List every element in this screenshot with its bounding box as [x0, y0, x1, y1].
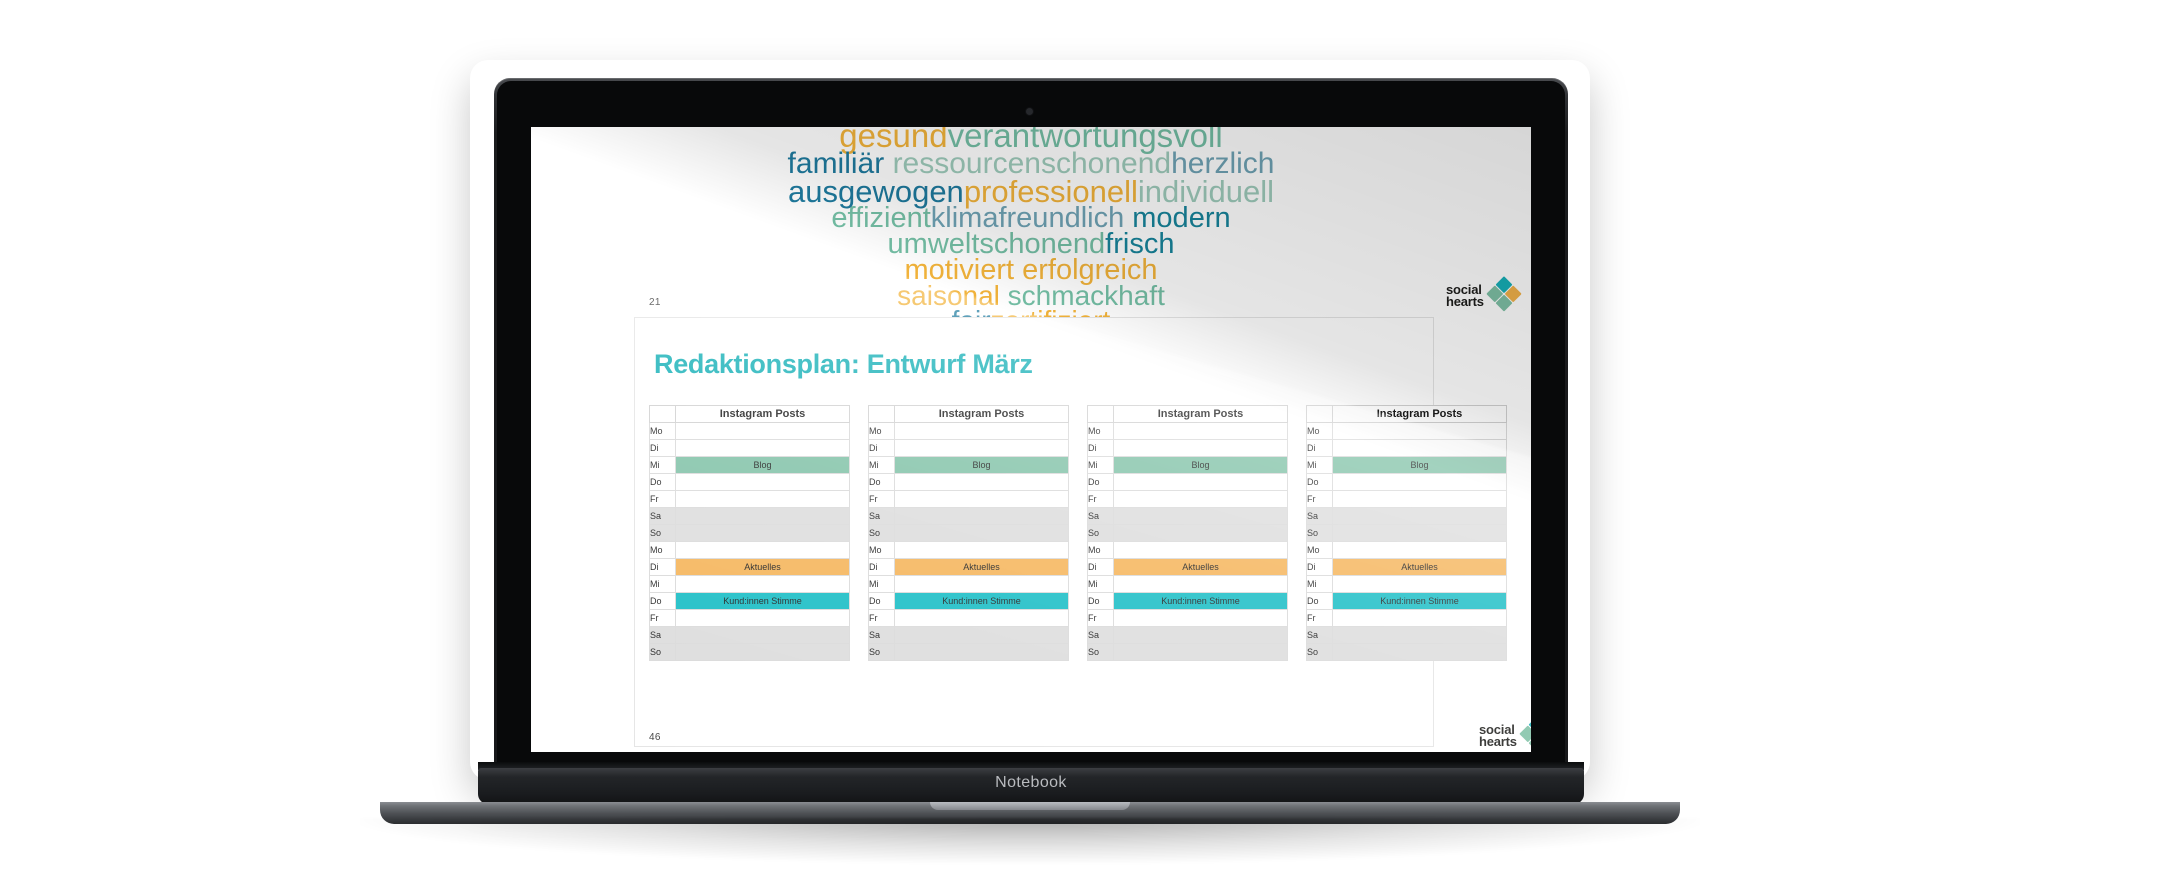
- table-row: MiBlog: [1088, 457, 1288, 474]
- calendar-entry-cell[interactable]: Blog: [1333, 457, 1507, 474]
- calendar-day-label: Mo: [869, 542, 895, 559]
- social-hearts-diamond-icon: [1484, 276, 1524, 316]
- table-row: DoKund:innen Stimme: [1307, 593, 1507, 610]
- calendar-day-label: Mi: [869, 576, 895, 593]
- calendar-entry-cell[interactable]: Aktuelles: [895, 559, 1069, 576]
- calendar-day-label: Fr: [1088, 491, 1114, 508]
- calendar-entry-cell: [676, 440, 850, 457]
- calendar-entry-cell: [1333, 525, 1507, 542]
- calendar-entry-cell: [676, 491, 850, 508]
- table-row: Mo: [869, 542, 1069, 559]
- column-header-instagram-posts: Instagram Posts: [1114, 406, 1288, 423]
- calendar-entry-cell: [1114, 644, 1288, 661]
- table-row: So: [1307, 525, 1507, 542]
- logo-quadrant-bottom-left: [1519, 725, 1531, 742]
- calendar-entry-cell: [1333, 508, 1507, 525]
- table-row: Mi: [1088, 576, 1288, 593]
- calendar-table: Instagram PostsMoDiMiBlogDoFrSaSoMoDiAkt…: [1306, 405, 1507, 661]
- calendar-day-label: So: [1307, 644, 1333, 661]
- table-row: DiAktuelles: [1307, 559, 1507, 576]
- column-header-instagram-posts: Instagram Posts: [895, 406, 1069, 423]
- laptop-deck: Notebook: [478, 768, 1584, 804]
- table-row: DiAktuelles: [1088, 559, 1288, 576]
- table-row: Mo: [1307, 542, 1507, 559]
- logo-line-2: hearts: [1446, 296, 1484, 308]
- calendar-entry-cell[interactable]: Kund:innen Stimme: [1333, 593, 1507, 610]
- table-row: MiBlog: [869, 457, 1069, 474]
- calendar-day-label: Mi: [650, 576, 676, 593]
- table-row: Sa: [1307, 508, 1507, 525]
- calendar-entry-cell: [1114, 440, 1288, 457]
- calendar-entry-cell: [1114, 508, 1288, 525]
- table-row: MiBlog: [1307, 457, 1507, 474]
- calendar-day-label: Mi: [1088, 576, 1114, 593]
- calendar-day-label: Mo: [1307, 542, 1333, 559]
- calendar-entry-cell: [676, 576, 850, 593]
- table-row: Do: [1307, 474, 1507, 491]
- column-header-day: [1307, 406, 1333, 423]
- calendar-entry-cell: [1114, 491, 1288, 508]
- table-row: Mi: [650, 576, 850, 593]
- calendar-entry-cell[interactable]: Blog: [676, 457, 850, 474]
- calendar-entry-cell: [1333, 542, 1507, 559]
- calendar-entry-cell: [1114, 474, 1288, 491]
- table-row: Mo: [650, 423, 850, 440]
- calendar-day-label: Mo: [650, 542, 676, 559]
- calendar-day-label: Di: [650, 559, 676, 576]
- logo-bottom: social hearts: [1479, 722, 1531, 750]
- calendar-entry-cell: [676, 542, 850, 559]
- table-row: Sa: [1088, 627, 1288, 644]
- calendar-entry-cell[interactable]: Blog: [1114, 457, 1288, 474]
- calendar-day-label: Mi: [1088, 457, 1114, 474]
- calendar-day-label: Mo: [1088, 423, 1114, 440]
- calendar-day-label: So: [650, 644, 676, 661]
- calendar-day-label: Sa: [650, 508, 676, 525]
- table-row: Do: [869, 474, 1069, 491]
- calendar-entry-cell: [1114, 627, 1288, 644]
- calendar-day-label: Sa: [650, 627, 676, 644]
- table-row: So: [869, 525, 1069, 542]
- calendar-day-label: Do: [869, 593, 895, 610]
- table-row: Mo: [650, 542, 850, 559]
- editorial-calendar-tables: Instagram PostsMoDiMiBlogDoFrSaSoMoDiAkt…: [649, 405, 1507, 661]
- table-row: So: [1307, 644, 1507, 661]
- calendar-entry-cell: [1114, 610, 1288, 627]
- calendar-day-label: Di: [650, 440, 676, 457]
- table-row: Sa: [650, 508, 850, 525]
- calendar-day-label: Mo: [650, 423, 676, 440]
- calendar-day-label: Fr: [869, 610, 895, 627]
- calendar-entry-cell: [676, 627, 850, 644]
- calendar-entry-cell[interactable]: Kund:innen Stimme: [676, 593, 850, 610]
- calendar-entry-cell: [1333, 440, 1507, 457]
- calendar-entry-cell: [1333, 491, 1507, 508]
- calendar-day-label: Mi: [1307, 457, 1333, 474]
- table-row: Mo: [869, 423, 1069, 440]
- calendar-day-label: So: [1088, 644, 1114, 661]
- table-row: So: [650, 644, 850, 661]
- table-row: Fr: [869, 610, 1069, 627]
- calendar-day-label: Mi: [869, 457, 895, 474]
- column-header-day: [869, 406, 895, 423]
- calendar-day-label: Di: [1307, 440, 1333, 457]
- table-row: Mo: [1088, 542, 1288, 559]
- calendar-day-label: So: [1307, 525, 1333, 542]
- calendar-entry-cell: [1333, 627, 1507, 644]
- table-row: Di: [1307, 440, 1507, 457]
- laptop-mockup: gut grün nachhaltiggesundverantwortungsv…: [0, 0, 2160, 894]
- calendar-entry-cell: [1114, 525, 1288, 542]
- logo-wordmark-bottom: social hearts: [1479, 724, 1517, 748]
- table-row: Fr: [1088, 491, 1288, 508]
- calendar-day-label: Sa: [869, 627, 895, 644]
- table-row: So: [869, 644, 1069, 661]
- calendar-day-label: Do: [869, 474, 895, 491]
- calendar-entry-cell: [895, 627, 1069, 644]
- table-row: Fr: [650, 610, 850, 627]
- calendar-entry-cell[interactable]: Aktuelles: [1114, 559, 1288, 576]
- table-row: Sa: [1307, 627, 1507, 644]
- social-hearts-diamond-icon-bottom: [1517, 716, 1531, 752]
- calendar-day-label: Do: [1088, 474, 1114, 491]
- table-row: Mo: [1307, 423, 1507, 440]
- calendar-entry-cell[interactable]: Blog: [895, 457, 1069, 474]
- calendar-entry-cell: [676, 508, 850, 525]
- calendar-entry-cell: [895, 644, 1069, 661]
- page-number-top: 21: [649, 297, 661, 308]
- table-row: Fr: [650, 491, 850, 508]
- calendar-day-label: Sa: [1307, 627, 1333, 644]
- calendar-day-label: Fr: [1307, 610, 1333, 627]
- calendar-table: Instagram PostsMoDiMiBlogDoFrSaSoMoDiAkt…: [868, 405, 1069, 661]
- calendar-entry-cell: [676, 474, 850, 491]
- calendar-entry-cell: [1333, 644, 1507, 661]
- calendar-day-label: So: [1088, 525, 1114, 542]
- calendar-day-label: So: [650, 525, 676, 542]
- table-row: Fr: [869, 491, 1069, 508]
- logo-wordmark: social hearts: [1446, 284, 1484, 308]
- calendar-day-label: Mo: [869, 423, 895, 440]
- table-row: Di: [1088, 440, 1288, 457]
- calendar-day-label: So: [869, 525, 895, 542]
- calendar-entry-cell: [676, 423, 850, 440]
- calendar-day-label: Fr: [650, 610, 676, 627]
- table-row: Sa: [650, 627, 850, 644]
- calendar-day-label: Fr: [650, 491, 676, 508]
- table-row: MiBlog: [650, 457, 850, 474]
- column-header-instagram-posts: Instagram Posts: [1333, 406, 1507, 423]
- calendar-entry-cell[interactable]: Aktuelles: [1333, 559, 1507, 576]
- calendar-day-label: Sa: [869, 508, 895, 525]
- calendar-day-label: Fr: [869, 491, 895, 508]
- wordcloud: gut grün nachhaltiggesundverantwortungsv…: [531, 127, 1531, 335]
- calendar-entry-cell: [895, 423, 1069, 440]
- table-row: Di: [650, 440, 850, 457]
- calendar-day-label: Do: [1088, 593, 1114, 610]
- calendar-entry-cell: [895, 542, 1069, 559]
- calendar-entry-cell: [1333, 474, 1507, 491]
- calendar-day-label: Sa: [1088, 508, 1114, 525]
- calendar-day-label: Mo: [1307, 423, 1333, 440]
- device-name-label: Notebook: [478, 774, 1584, 792]
- calendar-table: Instagram PostsMoDiMiBlogDoFrSaSoMoDiAkt…: [649, 405, 850, 661]
- column-header-day: [1088, 406, 1114, 423]
- page-number-bottom: 46: [649, 732, 661, 743]
- table-row: Mi: [869, 576, 1069, 593]
- calendar-entry-cell: [1333, 423, 1507, 440]
- table-row: Fr: [1088, 610, 1288, 627]
- logo-line-2-bottom: hearts: [1479, 736, 1517, 748]
- table-row: Mi: [1307, 576, 1507, 593]
- calendar-day-label: Do: [650, 593, 676, 610]
- calendar-day-label: Fr: [1088, 610, 1114, 627]
- calendar-entry-cell: [676, 525, 850, 542]
- calendar-day-label: Mo: [1088, 542, 1114, 559]
- calendar-day-label: Di: [1088, 440, 1114, 457]
- calendar-entry-cell: [895, 508, 1069, 525]
- calendar-entry-cell[interactable]: Kund:innen Stimme: [1114, 593, 1288, 610]
- table-row: DoKund:innen Stimme: [1088, 593, 1288, 610]
- table-row: Fr: [1307, 610, 1507, 627]
- table-row: Do: [650, 474, 850, 491]
- table-row: Sa: [1088, 508, 1288, 525]
- calendar-entry-cell: [676, 644, 850, 661]
- calendar-entry-cell: [1114, 576, 1288, 593]
- calendar-day-label: Di: [1088, 559, 1114, 576]
- calendar-entry-cell: [895, 474, 1069, 491]
- table-row: Do: [1088, 474, 1288, 491]
- table-row: DoKund:innen Stimme: [869, 593, 1069, 610]
- calendar-day-label: Mi: [650, 457, 676, 474]
- calendar-entry-cell: [676, 610, 850, 627]
- calendar-day-label: Mi: [1307, 576, 1333, 593]
- table-row: Mo: [1088, 423, 1288, 440]
- calendar-entry-cell: [895, 576, 1069, 593]
- calendar-entry-cell[interactable]: Aktuelles: [676, 559, 850, 576]
- screenshot-root: gut grün nachhaltiggesundverantwortungsv…: [0, 0, 2160, 894]
- laptop-screen: gut grün nachhaltiggesundverantwortungsv…: [531, 127, 1531, 752]
- calendar-entry-cell: [1333, 576, 1507, 593]
- table-row: Sa: [869, 627, 1069, 644]
- calendar-day-label: Fr: [1307, 491, 1333, 508]
- calendar-day-label: Di: [1307, 559, 1333, 576]
- column-header-instagram-posts: Instagram Posts: [676, 406, 850, 423]
- page-title: Redaktionsplan: Entwurf März: [654, 349, 1033, 380]
- calendar-day-label: So: [869, 644, 895, 661]
- calendar-day-label: Di: [869, 440, 895, 457]
- calendar-table: Instagram PostsMoDiMiBlogDoFrSaSoMoDiAkt…: [1087, 405, 1288, 661]
- calendar-entry-cell: [895, 610, 1069, 627]
- calendar-entry-cell: [1114, 542, 1288, 559]
- calendar-entry-cell: [895, 525, 1069, 542]
- calendar-day-label: Di: [869, 559, 895, 576]
- calendar-day-label: Do: [650, 474, 676, 491]
- table-row: So: [650, 525, 850, 542]
- calendar-day-label: Do: [1307, 474, 1333, 491]
- table-row: DiAktuelles: [869, 559, 1069, 576]
- calendar-entry-cell: [1114, 423, 1288, 440]
- calendar-entry-cell[interactable]: Kund:innen Stimme: [895, 593, 1069, 610]
- column-header-day: [650, 406, 676, 423]
- laptop-drop-shadow: [360, 818, 1700, 864]
- calendar-entry-cell: [895, 440, 1069, 457]
- calendar-entry-cell: [1333, 610, 1507, 627]
- webcam-icon: [1026, 108, 1033, 115]
- calendar-day-label: Sa: [1088, 627, 1114, 644]
- table-row: Fr: [1307, 491, 1507, 508]
- table-row: Di: [869, 440, 1069, 457]
- calendar-day-label: Do: [1307, 593, 1333, 610]
- calendar-entry-cell: [895, 491, 1069, 508]
- logo-top: social hearts: [1446, 282, 1518, 310]
- table-row: DiAktuelles: [650, 559, 850, 576]
- table-row: DoKund:innen Stimme: [650, 593, 850, 610]
- table-row: So: [1088, 525, 1288, 542]
- table-row: Sa: [869, 508, 1069, 525]
- table-row: So: [1088, 644, 1288, 661]
- calendar-day-label: Sa: [1307, 508, 1333, 525]
